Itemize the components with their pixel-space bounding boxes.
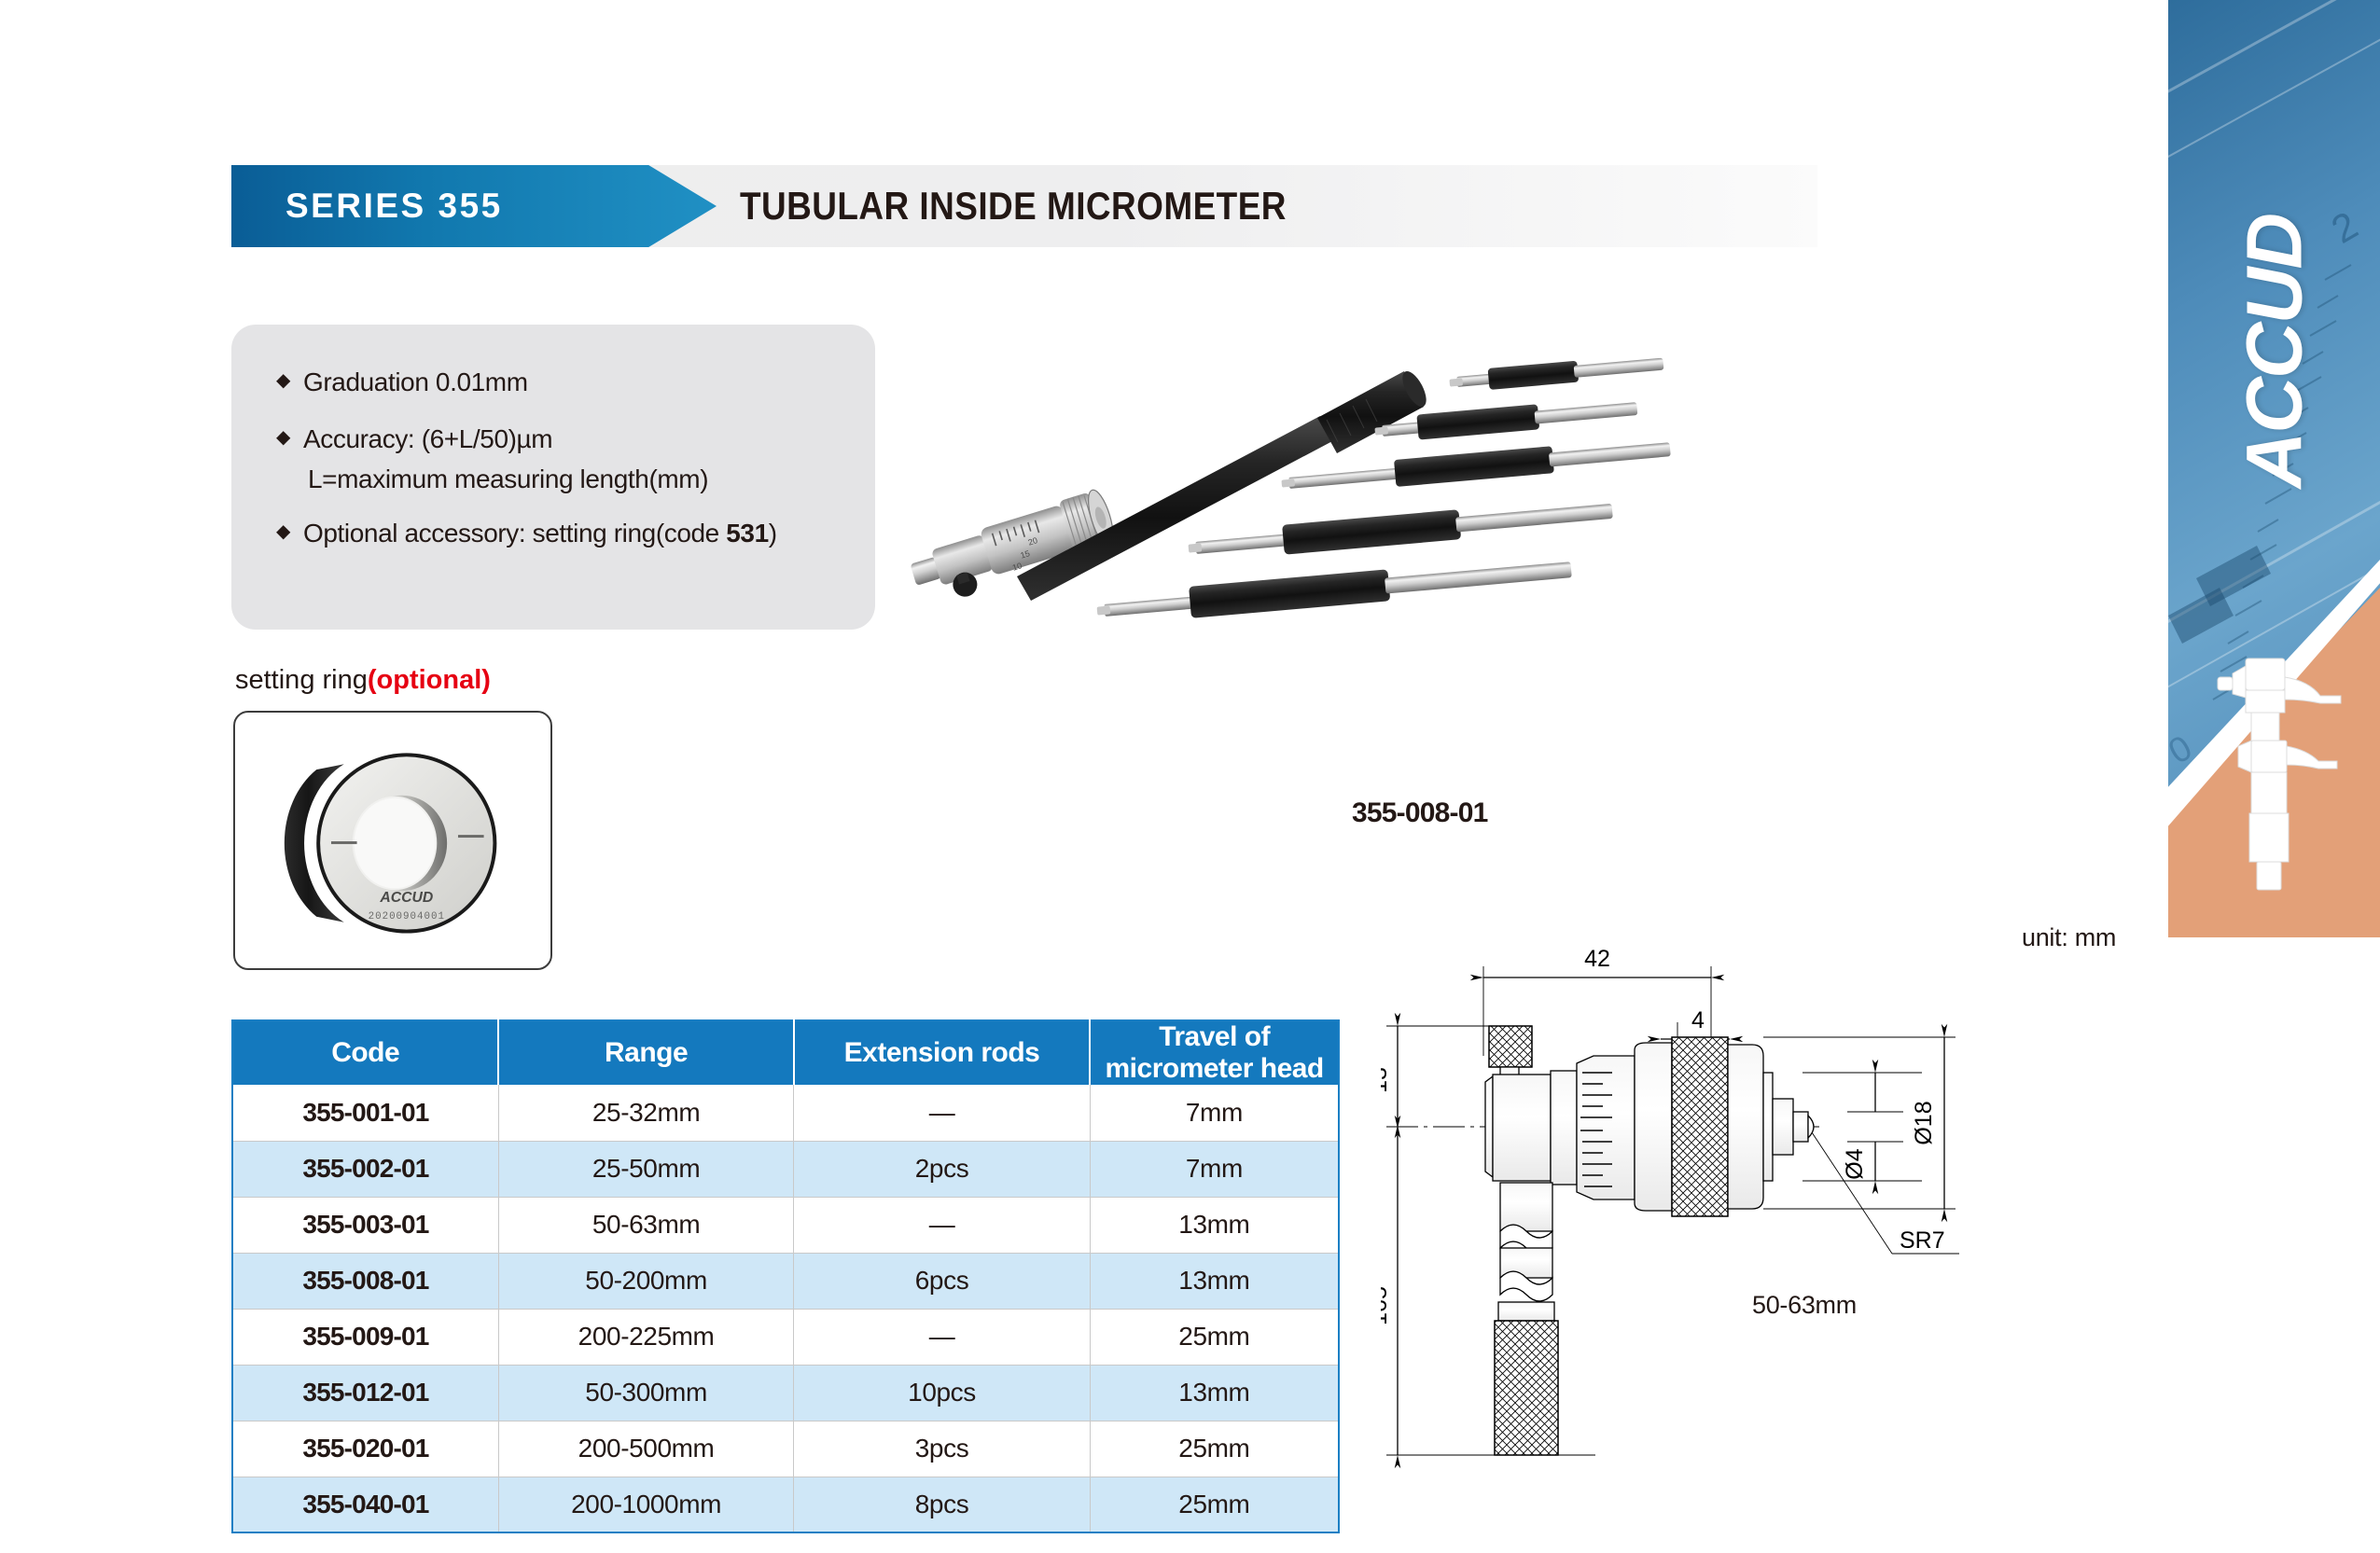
extension-rod-5 — [1095, 553, 1572, 626]
feature-optional-code: 531 — [726, 519, 769, 548]
ring-serial-text: 20200904001 — [369, 911, 445, 922]
feature-graduation-text: Graduation 0.01mm — [303, 366, 528, 398]
cell-travel: 7mm — [1090, 1085, 1339, 1141]
setting-ring-caption: setting ring(optional) — [235, 665, 491, 696]
dim-4-label: 4 — [1691, 1007, 1705, 1033]
cell-travel: 13mm — [1090, 1197, 1339, 1253]
cell-code: 355-040-01 — [232, 1477, 498, 1532]
right-sidebar: 2 3 0 ACCUD — [2168, 0, 2380, 1553]
ring-bore-highlight — [355, 798, 436, 889]
diamond-bullet-icon: ◆ — [276, 423, 290, 452]
cell-travel: 7mm — [1090, 1141, 1339, 1197]
cell-travel: 25mm — [1090, 1421, 1339, 1477]
sidebar-brand-accud: ACCUD — [2229, 215, 2319, 488]
dim-sr7-label: SR7 — [1900, 1227, 1945, 1254]
cell-code: 355-012-01 — [232, 1365, 498, 1421]
ring-brand-text: ACCUD — [379, 890, 433, 906]
features-box: ◆ Graduation 0.01mm ◆ Accuracy: (6+L/50)… — [231, 325, 875, 630]
feature-item-optional-accessory: ◆ Optional accessory: setting ring(code … — [276, 517, 838, 549]
caliper-icon — [2205, 653, 2345, 905]
dim-165-label: 165 — [1381, 1286, 1392, 1325]
table-row[interactable]: 355-008-01 50-200mm 6pcs 13mm — [232, 1253, 1339, 1309]
product-photo: 20 15 10 — [896, 354, 1978, 728]
cell-travel: 13mm — [1090, 1253, 1339, 1309]
cell-rods: 8pcs — [794, 1477, 1090, 1532]
feature-item-accuracy: ◆ Accuracy: (6+L/50)µm — [276, 423, 838, 455]
feature-accuracy-note: L=maximum measuring length(mm) — [308, 465, 838, 494]
cell-code: 355-009-01 — [232, 1309, 498, 1365]
specification-table: Code Range Extension rods Travel of micr… — [231, 1019, 1340, 1533]
cell-range: 200-500mm — [498, 1421, 793, 1477]
feature-optional-label: Optional accessory: setting ring(code — [303, 519, 726, 548]
feature-item-graduation: ◆ Graduation 0.01mm — [276, 366, 838, 398]
cell-range: 25-32mm — [498, 1085, 793, 1141]
cell-code: 355-003-01 — [232, 1197, 498, 1253]
cell-rods: 6pcs — [794, 1253, 1090, 1309]
product-photo-svg: 20 15 10 — [896, 354, 1978, 728]
table-row[interactable]: 355-001-01 25-32mm — 7mm — [232, 1085, 1339, 1141]
cell-code: 355-001-01 — [232, 1085, 498, 1141]
cell-rods: 3pcs — [794, 1421, 1090, 1477]
setting-ring-photo: ACCUD 20200904001 — [235, 713, 550, 968]
cell-range: 50-300mm — [498, 1365, 793, 1421]
header-banner: SERIES 355 — [231, 165, 1817, 247]
table-row[interactable]: 355-020-01 200-500mm 3pcs 25mm — [232, 1421, 1339, 1477]
table-row[interactable]: 355-012-01 50-300mm 10pcs 13mm — [232, 1365, 1339, 1421]
model-number-label: 355-008-01 — [1352, 797, 1487, 829]
cell-code: 355-020-01 — [232, 1421, 498, 1477]
setting-ring-optional-label: (optional) — [368, 665, 491, 695]
cell-rods: — — [794, 1309, 1090, 1365]
extension-rod-4 — [1187, 496, 1613, 563]
table-row[interactable]: 355-002-01 25-50mm 2pcs 7mm — [232, 1141, 1339, 1197]
cell-range: 50-200mm — [498, 1253, 793, 1309]
cell-code: 355-008-01 — [232, 1253, 498, 1309]
ring-tick-right — [458, 835, 484, 838]
dim-d18-label: Ø18 — [1911, 1101, 1937, 1144]
setting-ring-image-box: ACCUD 20200904001 — [233, 711, 552, 970]
cell-range: 25-50mm — [498, 1141, 793, 1197]
table-row[interactable]: 355-040-01 200-1000mm 8pcs 25mm — [232, 1477, 1339, 1532]
dim-13-label: 13 — [1381, 1067, 1392, 1093]
column-header-travel: Travel of micrometer head — [1090, 1020, 1339, 1085]
drawing-caption: 50-63mm — [1752, 1291, 1857, 1320]
cell-rods: — — [794, 1197, 1090, 1253]
cell-rods: — — [794, 1085, 1090, 1141]
cell-travel: 25mm — [1090, 1477, 1339, 1532]
setting-ring-label: setting ring — [235, 665, 368, 695]
sidebar-bottom-white — [2168, 937, 2380, 1553]
feature-optional-suffix: ) — [769, 519, 777, 548]
column-header-code: Code — [232, 1020, 498, 1085]
diamond-bullet-icon: ◆ — [276, 517, 290, 547]
cell-range: 200-1000mm — [498, 1477, 793, 1532]
cell-code: 355-002-01 — [232, 1141, 498, 1197]
ruler-number-2: 2 — [2324, 202, 2365, 251]
table-header-row: Code Range Extension rods Travel of micr… — [232, 1020, 1339, 1085]
cell-travel: 13mm — [1090, 1365, 1339, 1421]
dim-d4-label: Ø4 — [1842, 1148, 1868, 1179]
diamond-bullet-icon: ◆ — [276, 366, 290, 395]
technical-drawing: 42 4 13 165 — [1381, 933, 2239, 1492]
cell-range: 200-225mm — [498, 1309, 793, 1365]
technical-drawing-svg: 42 4 13 165 — [1381, 933, 2239, 1492]
cell-range: 50-63mm — [498, 1197, 793, 1253]
cell-rods: 10pcs — [794, 1365, 1090, 1421]
cell-travel: 25mm — [1090, 1309, 1339, 1365]
table-row[interactable]: 355-009-01 200-225mm — 25mm — [232, 1309, 1339, 1365]
sidebar-caliper-shadow — [2168, 546, 2271, 644]
table-row[interactable]: 355-003-01 50-63mm — 13mm — [232, 1197, 1339, 1253]
cell-rods: 2pcs — [794, 1141, 1090, 1197]
ring-tick-left — [331, 841, 357, 844]
extension-rod-1 — [1449, 354, 1664, 394]
column-header-range: Range — [498, 1020, 793, 1085]
column-header-extension-rods: Extension rods — [794, 1020, 1090, 1085]
feature-accuracy-text: Accuracy: (6+L/50)µm — [303, 423, 552, 455]
handle-rod — [1017, 367, 1431, 601]
feature-optional-text: Optional accessory: setting ring(code 53… — [303, 517, 777, 549]
series-label: SERIES 355 — [285, 187, 503, 226]
dim-42-label: 42 — [1584, 946, 1610, 972]
